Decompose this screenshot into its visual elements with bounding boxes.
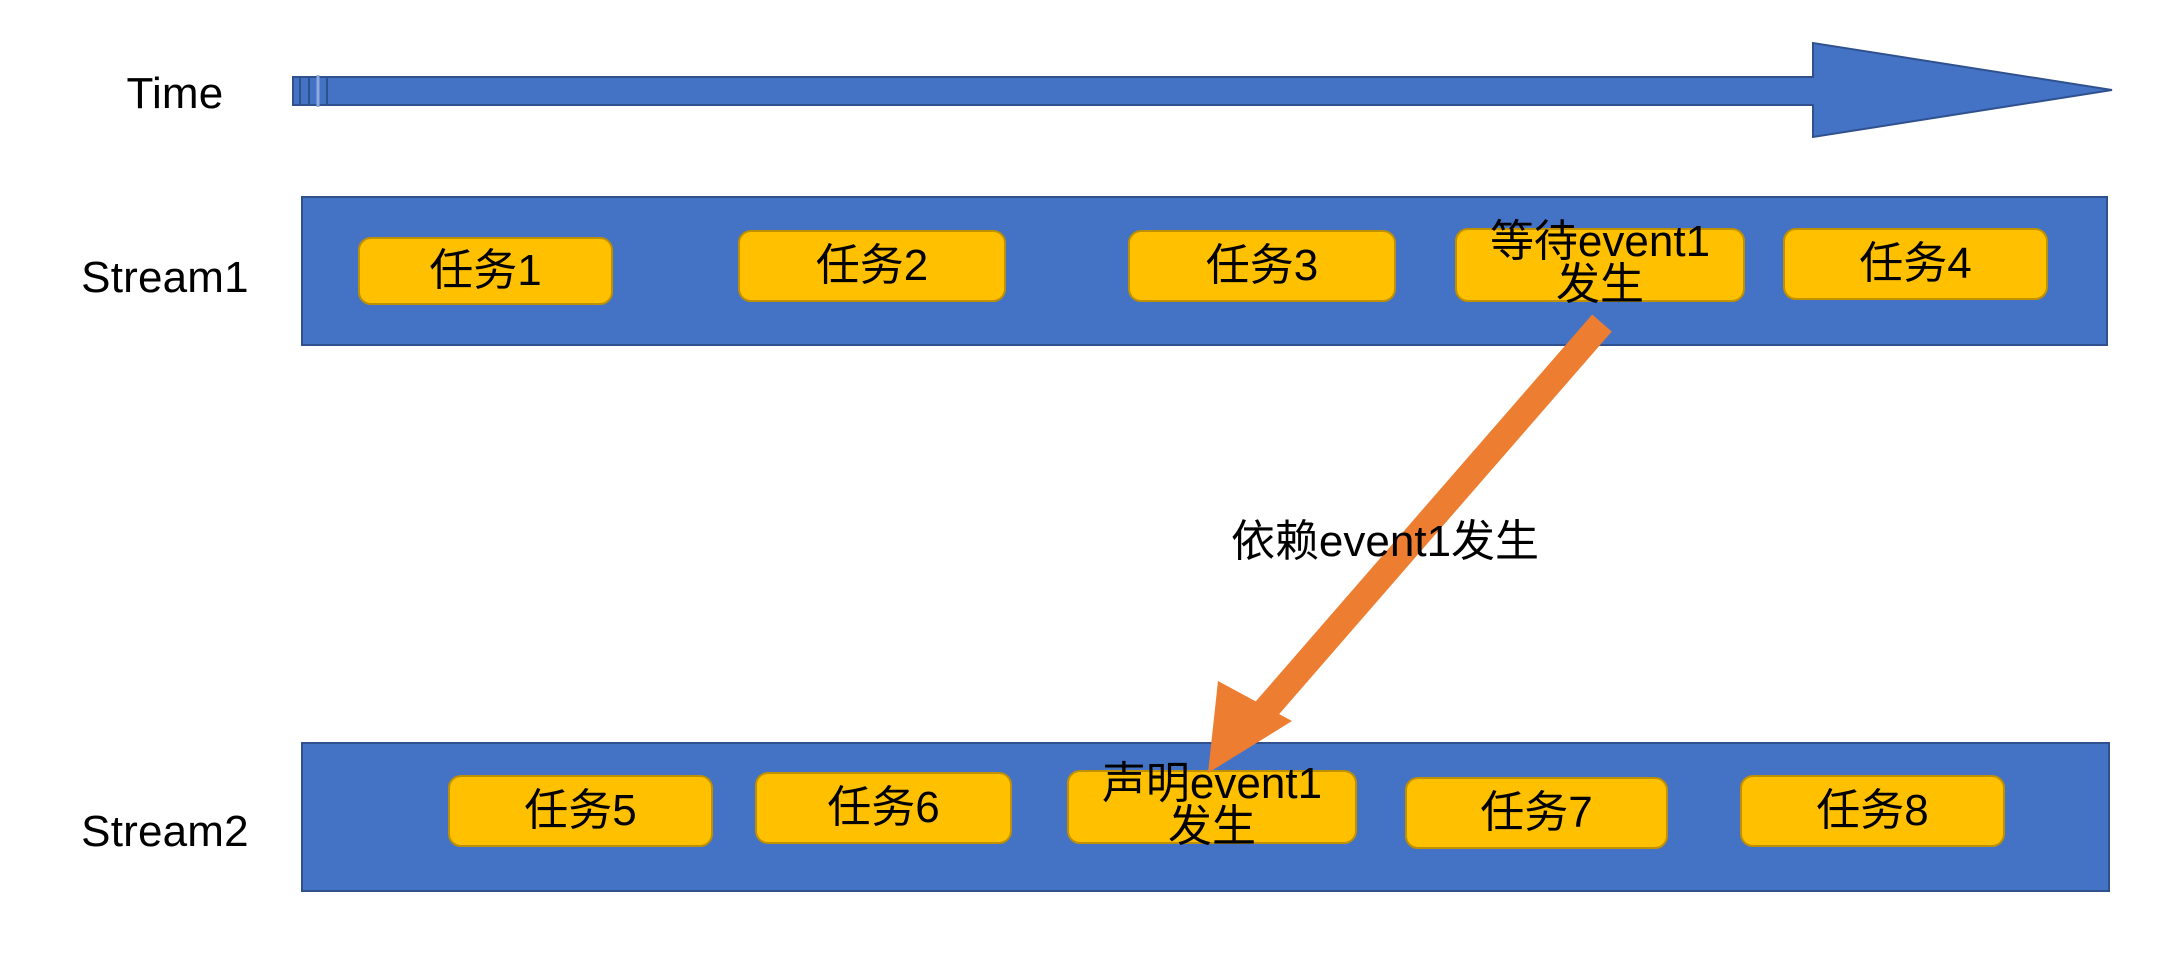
time-arrow-icon xyxy=(290,34,2115,146)
task-label: 声明event1 发生 xyxy=(1102,762,1322,848)
task-box-s2-declare-event1[interactable]: 声明event1 发生 xyxy=(1067,770,1357,844)
task-label: 任务6 xyxy=(827,786,939,831)
task-box-s2-t7[interactable]: 任务7 xyxy=(1405,777,1668,849)
task-box-s1-t3[interactable]: 任务3 xyxy=(1128,230,1396,302)
task-label: 任务3 xyxy=(1206,244,1318,289)
task-label: 任务8 xyxy=(1816,789,1928,834)
task-box-s2-t8[interactable]: 任务8 xyxy=(1740,775,2005,847)
task-label: 任务5 xyxy=(524,789,636,834)
task-label: 任务7 xyxy=(1480,791,1592,836)
stream2-label: Stream2 xyxy=(20,810,310,854)
task-box-s1-t2[interactable]: 任务2 xyxy=(738,230,1006,302)
diagram-canvas: Time Stream1 任务1 任务2 任务3 等待event1 发生 任务4… xyxy=(0,0,2175,976)
task-label: 任务2 xyxy=(816,244,928,289)
time-axis-label: Time xyxy=(40,72,310,116)
task-box-s2-t5[interactable]: 任务5 xyxy=(448,775,713,847)
dependency-label: 依赖event1发生 xyxy=(1150,520,1620,564)
task-label: 任务4 xyxy=(1859,242,1971,287)
task-box-s1-wait-event1[interactable]: 等待event1 发生 xyxy=(1455,228,1745,302)
task-box-s1-t1[interactable]: 任务1 xyxy=(358,237,613,305)
task-box-s1-t4[interactable]: 任务4 xyxy=(1783,228,2048,300)
task-label: 任务1 xyxy=(429,249,541,294)
task-box-s2-t6[interactable]: 任务6 xyxy=(755,772,1012,844)
task-label: 等待event1 发生 xyxy=(1490,220,1710,306)
stream1-label: Stream1 xyxy=(20,256,310,300)
